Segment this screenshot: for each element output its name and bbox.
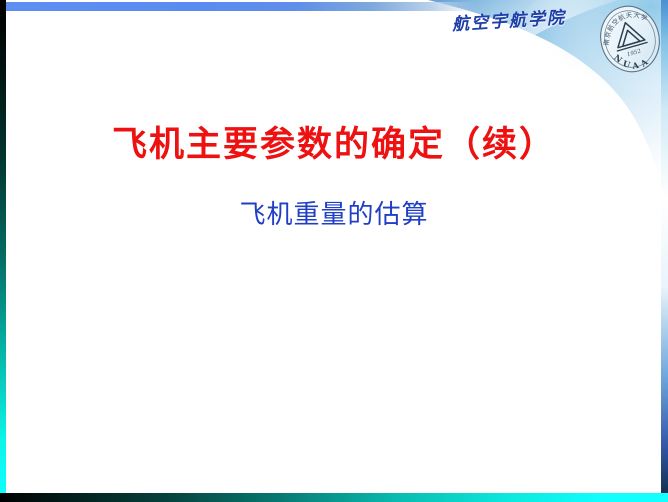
slide-title: 飞机主要参数的确定（续） — [0, 125, 668, 165]
slide-subtitle: 飞机重量的估算 — [0, 200, 668, 231]
presentation-slide: 航空宇航学院 南京航空航天大学 — [0, 0, 668, 502]
slide-body-content-area — [6, 250, 661, 493]
top-edge-blue-bar — [6, 2, 476, 11]
nuaa-seal-logo: 南京航空航天大学 1952 NUAA — [594, 2, 666, 76]
bottom-edge-gradient-bar — [0, 493, 668, 502]
left-edge-gradient-bar — [0, 0, 6, 502]
